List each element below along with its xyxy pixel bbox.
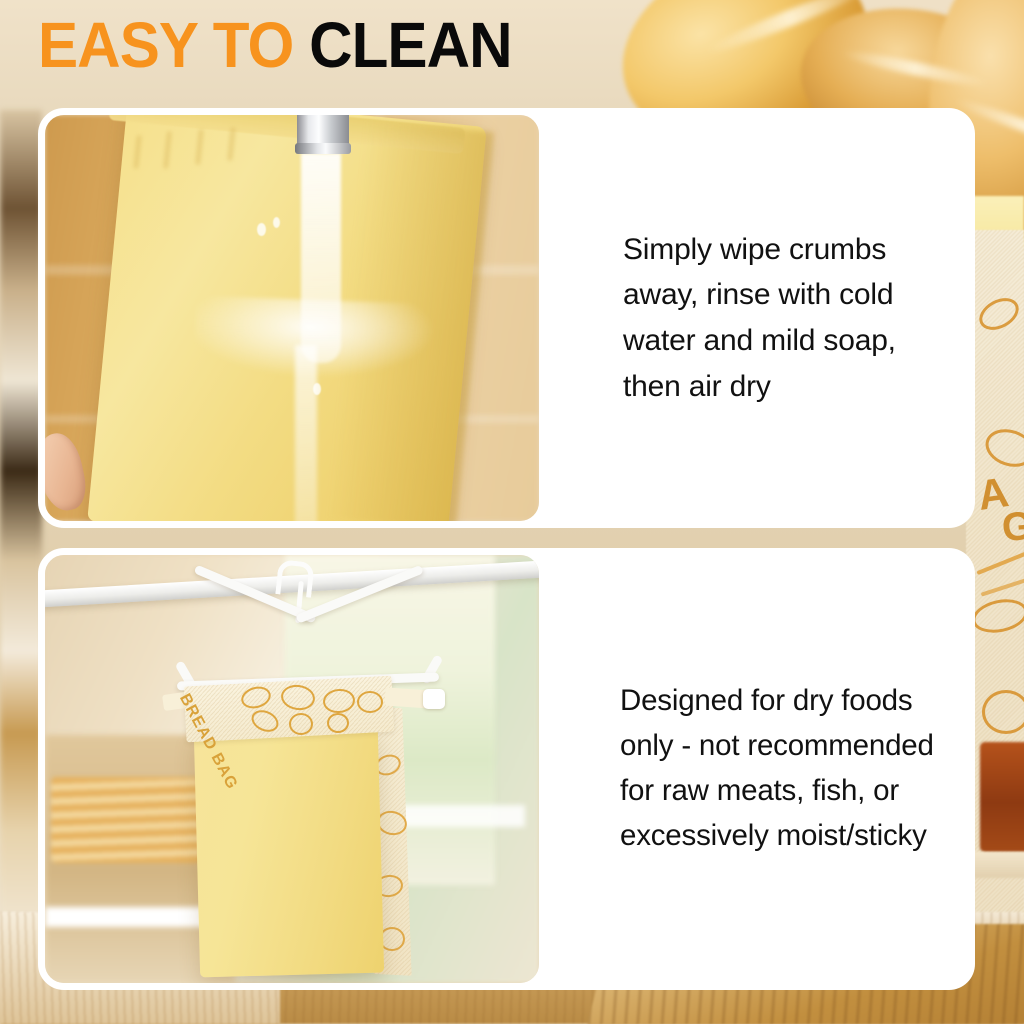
background-jar-rim (968, 852, 1024, 878)
water-droplet (257, 223, 266, 236)
water-droplet (313, 383, 321, 395)
feature-row-easy-rinse: Simply wipe crumbs away, rinse with cold… (38, 108, 975, 528)
bag-print-icon (327, 713, 349, 733)
feature-description-line: away, rinse with cold (623, 272, 896, 318)
feature-photo-hanger: BREAD BAG (38, 548, 546, 990)
bag-print-icon (289, 713, 313, 735)
feature-text-card: Simply wipe crumbs away, rinse with cold… (508, 108, 975, 528)
faucet-aerator (295, 143, 351, 154)
feature-description: Designed for dry foods only - not recomm… (508, 679, 952, 858)
page-title-highlight: EASY TO (38, 9, 293, 81)
fabric-letter-g: G (1000, 504, 1024, 551)
folded-bags-stack (51, 777, 201, 863)
water-runoff (295, 345, 317, 528)
feature-photo-rinse (38, 108, 546, 528)
hanger-hook (275, 559, 314, 598)
feature-description-line: water and mild soap, (623, 318, 896, 364)
feature-description-line: for raw meats, fish, or (620, 769, 934, 814)
feature-description-line: excessively moist/sticky (620, 814, 934, 859)
feature-row-dry-foods: Designed for dry foods only - not recomm… (38, 548, 975, 990)
feature-description: Simply wipe crumbs away, rinse with cold… (508, 227, 914, 409)
background-kitchen-blur (0, 110, 42, 930)
infographic-canvas: A G EASY TO CLEAN Simply wipe crumbs awa… (0, 0, 1024, 1024)
feature-text-card: Designed for dry foods only - not recomm… (508, 548, 975, 990)
water-droplet (273, 217, 280, 228)
bag-print-icon (357, 691, 383, 713)
fabric-bread-print-icon (982, 690, 1024, 734)
water-stream (301, 153, 341, 363)
page-title: EASY TO CLEAN (38, 13, 512, 77)
page-title-rest: CLEAN (309, 9, 512, 81)
bag-clip (423, 689, 445, 709)
background-jam-jar (980, 742, 1024, 852)
feature-description-line: Designed for dry foods (620, 679, 934, 724)
feature-description-line: then air dry (623, 364, 896, 410)
feature-description-line: only - not recommended (620, 724, 934, 769)
feature-description-line: Simply wipe crumbs (623, 227, 896, 273)
